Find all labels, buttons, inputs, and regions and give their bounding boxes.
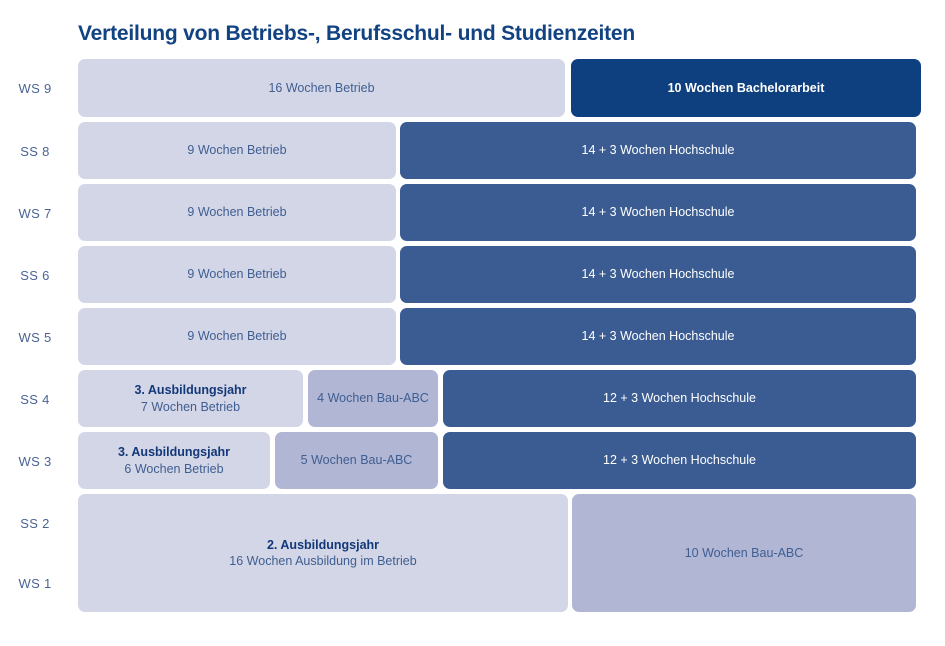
row-label-ws9: WS 9 — [0, 81, 70, 96]
bar-sublabel: 12 + 3 Wochen Hochschule — [603, 452, 756, 469]
timeline-row: SS 43. Ausbildungsjahr7 Wochen Betrieb4 … — [0, 370, 945, 427]
row-label-ss4: SS 4 — [0, 392, 70, 407]
bar-title: 3. Ausbildungsjahr — [118, 444, 230, 461]
bar-sublabel: 12 + 3 Wochen Hochschule — [603, 390, 756, 407]
timeline-row: WS 33. Ausbildungsjahr6 Wochen Betrieb5 … — [0, 432, 945, 489]
timeline-row: WS 79 Wochen Betrieb14 + 3 Wochen Hochsc… — [0, 184, 945, 241]
bar-sublabel: 16 Wochen Ausbildung im Betrieb — [229, 553, 416, 570]
bar-title: 10 Wochen Bachelorarbeit — [668, 80, 825, 97]
bar-sublabel: 9 Wochen Betrieb — [187, 142, 286, 159]
bar-title: 3. Ausbildungsjahr — [134, 382, 246, 399]
bar-ws9-bachelorarbeit[interactable]: 10 Wochen Bachelorarbeit — [571, 59, 921, 117]
bar-ss4-betrieb[interactable]: 3. Ausbildungsjahr7 Wochen Betrieb — [78, 370, 303, 427]
bar-ss6-betrieb[interactable]: 9 Wochen Betrieb — [78, 246, 396, 303]
bar-sublabel: 14 + 3 Wochen Hochschule — [582, 266, 735, 283]
row-label-ss6: SS 6 — [0, 268, 70, 283]
row-label-ss2ws1-0: SS 2 — [0, 516, 70, 531]
bar-sublabel: 14 + 3 Wochen Hochschule — [582, 142, 735, 159]
bar-ss4-hochschule[interactable]: 12 + 3 Wochen Hochschule — [443, 370, 916, 427]
row-label-ws3: WS 3 — [0, 454, 70, 469]
bar-ss8-betrieb[interactable]: 9 Wochen Betrieb — [78, 122, 396, 179]
bar-ws3-betrieb[interactable]: 3. Ausbildungsjahr6 Wochen Betrieb — [78, 432, 270, 489]
timeline-row: SS 69 Wochen Betrieb14 + 3 Wochen Hochsc… — [0, 246, 945, 303]
bar-ws7-betrieb[interactable]: 9 Wochen Betrieb — [78, 184, 396, 241]
timeline-row: WS 916 Wochen Betrieb10 Wochen Bachelora… — [0, 59, 945, 117]
bar-ss6-hochschule[interactable]: 14 + 3 Wochen Hochschule — [400, 246, 916, 303]
row-label-ws7: WS 7 — [0, 206, 70, 221]
bar-ss4-bau_abc[interactable]: 4 Wochen Bau-ABC — [308, 370, 438, 427]
bar-sublabel: 5 Wochen Bau-ABC — [301, 452, 413, 469]
bar-ws3-hochschule[interactable]: 12 + 3 Wochen Hochschule — [443, 432, 916, 489]
bar-sublabel: 9 Wochen Betrieb — [187, 204, 286, 221]
row-label-ss8: SS 8 — [0, 144, 70, 159]
bar-sublabel: 9 Wochen Betrieb — [187, 266, 286, 283]
timeline-row: SS 89 Wochen Betrieb14 + 3 Wochen Hochsc… — [0, 122, 945, 179]
bar-ss2ws1-betrieb[interactable]: 2. Ausbildungsjahr16 Wochen Ausbildung i… — [78, 494, 568, 612]
timeline-row: WS 59 Wochen Betrieb14 + 3 Wochen Hochsc… — [0, 308, 945, 365]
bar-ss2ws1-bau_abc[interactable]: 10 Wochen Bau-ABC — [572, 494, 916, 612]
bar-sublabel: 14 + 3 Wochen Hochschule — [582, 328, 735, 345]
bar-ws5-betrieb[interactable]: 9 Wochen Betrieb — [78, 308, 396, 365]
timeline-row: SS 2WS 12. Ausbildungsjahr16 Wochen Ausb… — [0, 494, 945, 612]
row-label-ss2ws1-1: WS 1 — [0, 576, 70, 591]
bar-sublabel: 6 Wochen Betrieb — [124, 461, 223, 478]
bar-ws9-betrieb[interactable]: 16 Wochen Betrieb — [78, 59, 565, 117]
bar-sublabel: 16 Wochen Betrieb — [268, 80, 374, 97]
bar-sublabel: 14 + 3 Wochen Hochschule — [582, 204, 735, 221]
row-label-ws5: WS 5 — [0, 330, 70, 345]
timeline-plot-area: WS 916 Wochen Betrieb10 Wochen Bachelora… — [0, 59, 945, 619]
bar-ws3-bau_abc[interactable]: 5 Wochen Bau-ABC — [275, 432, 438, 489]
bar-sublabel: 9 Wochen Betrieb — [187, 328, 286, 345]
timeline-chart: Verteilung von Betriebs-, Berufsschul- u… — [0, 0, 945, 646]
bar-sublabel: 4 Wochen Bau-ABC — [317, 390, 429, 407]
bar-sublabel: 10 Wochen Bau-ABC — [685, 545, 804, 562]
bar-ws5-hochschule[interactable]: 14 + 3 Wochen Hochschule — [400, 308, 916, 365]
bar-ws7-hochschule[interactable]: 14 + 3 Wochen Hochschule — [400, 184, 916, 241]
bar-sublabel: 7 Wochen Betrieb — [141, 399, 240, 416]
page-title: Verteilung von Betriebs-, Berufsschul- u… — [78, 22, 635, 45]
bar-title: 2. Ausbildungsjahr — [267, 537, 379, 554]
bar-ss8-hochschule[interactable]: 14 + 3 Wochen Hochschule — [400, 122, 916, 179]
